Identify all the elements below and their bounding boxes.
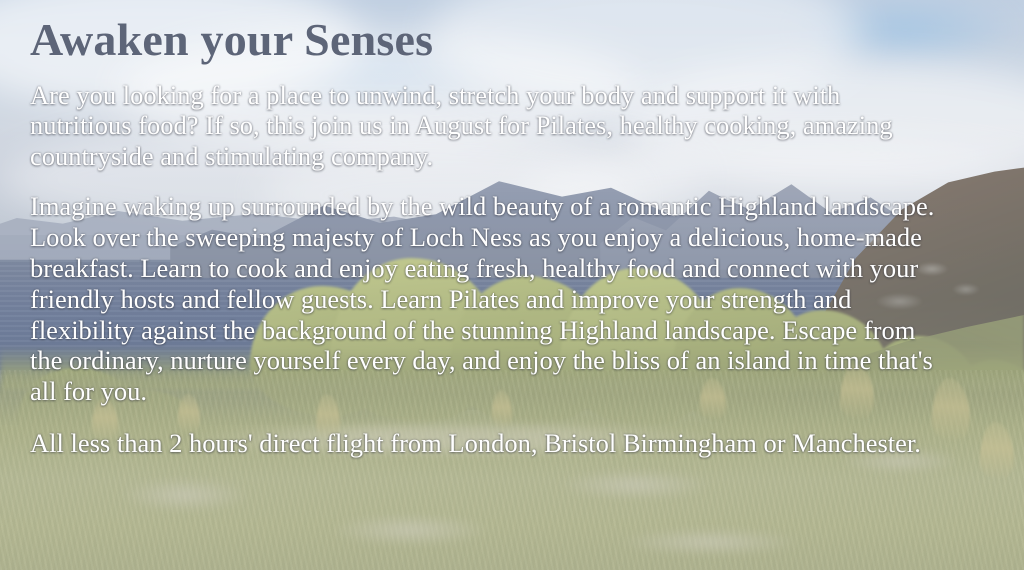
body-paragraph-3: All less than 2 hours' direct flight fro… [30,428,945,459]
promo-poster: Awaken your Senses Are you looking for a… [0,0,1024,570]
page-title: Awaken your Senses [30,14,982,66]
text-content: Awaken your Senses Are you looking for a… [30,14,982,459]
body-paragraph-2: Imagine waking up surrounded by the wild… [30,191,945,407]
body-paragraph-1: Are you looking for a place to unwind, s… [30,80,945,173]
